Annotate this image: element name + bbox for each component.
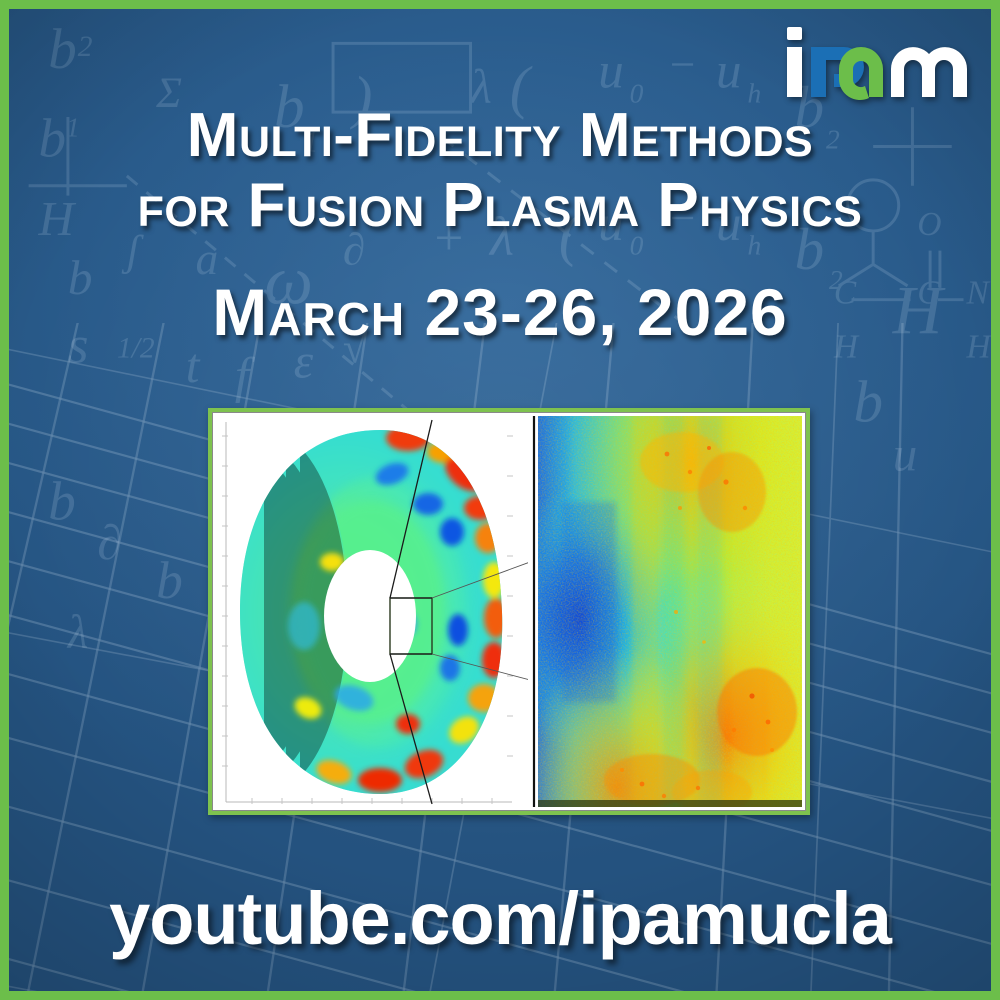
tokamak-poloidal-cross-section bbox=[212, 412, 530, 811]
turbulence-zoom-panel bbox=[538, 416, 802, 811]
title-line-1: Multi-Fidelity Methods bbox=[9, 101, 991, 171]
date-text: March 23-26, 2026 bbox=[9, 274, 991, 350]
event-date: March 23-26, 2026 bbox=[9, 274, 991, 350]
page-title: Multi-Fidelity Methods for Fusion Plasma… bbox=[9, 101, 991, 241]
footer-url[interactable]: youtube.com/ipamucla bbox=[9, 877, 991, 961]
ipam-logo[interactable] bbox=[783, 23, 969, 101]
footer-url-text[interactable]: youtube.com/ipamucla bbox=[9, 877, 991, 961]
title-line-2: for Fusion Plasma Physics bbox=[9, 171, 991, 241]
poster-root: b 2 b 1 Σ b 1 ) λ ( u 0 − u h b 2 H b bbox=[0, 0, 1000, 1000]
plasma-simulation-figure bbox=[208, 408, 810, 815]
